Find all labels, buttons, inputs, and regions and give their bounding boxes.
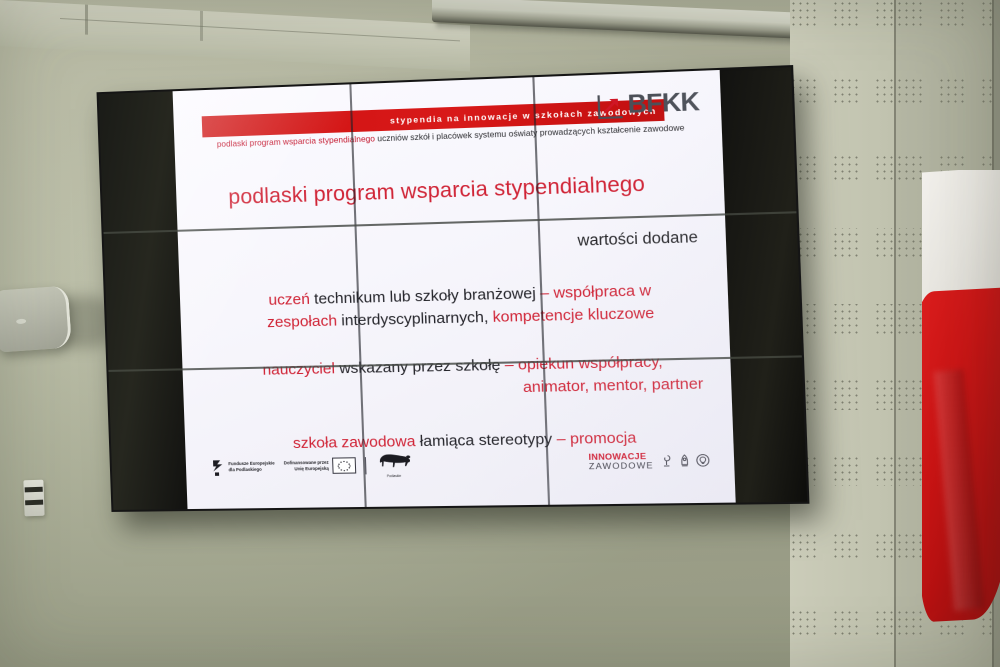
innowacje-zawodowe-logo: INNOWACJE ZAWODOWE: [588, 451, 710, 471]
eu-stars-icon: [333, 458, 355, 474]
acoustic-panel-left: [790, 0, 894, 667]
presentation-slide: stypendia na innowacje w szkołach zawodo…: [173, 70, 736, 509]
bfkk-wordmark: BFKK: [627, 87, 700, 120]
innowacje-zawodowe-text: INNOWACJE ZAWODOWE: [588, 452, 654, 471]
eu-funding-text: Dofinansowane przez Unię Europejską: [284, 460, 329, 472]
fundusze-europejskie-text: Fundusze Europejskie dla Podlaskiego: [228, 461, 275, 473]
wall-speaker: [0, 285, 72, 352]
eu-flag-icon: [332, 457, 356, 474]
bullet2-red-b: kompetencje kluczowe: [492, 304, 654, 325]
bullet2-dark: interdyscyplinarnych,: [341, 308, 493, 329]
slide-title: podlaski program wsparcia stypendialnego: [176, 170, 701, 211]
fundusze-europejskie-icon: [212, 459, 226, 476]
fundusze-europejskie-logo: Fundusze Europejskie dla Podlaskiego: [212, 458, 275, 476]
eu-line-2: Unię Europejską: [284, 466, 329, 472]
fe-line-2: dla Podlaskiego: [228, 467, 274, 473]
podlaskie-caption: Podlaskie: [375, 474, 412, 479]
bullet3-red-a: nauczyciel: [262, 360, 339, 379]
bullet1-red-b: – współpraca w: [540, 282, 652, 302]
switch-rocker-top: [25, 487, 43, 493]
hand-gesture-icon: [659, 453, 675, 468]
bullet2-red-a: zespołach: [267, 312, 342, 331]
light-switch[interactable]: [23, 480, 44, 517]
bullet5-red-a: szkoła zawodowa: [293, 433, 420, 452]
bullet1-red-a: uczeń: [268, 291, 314, 309]
room-scene: stypendia na innowacje w szkołach zawodo…: [0, 0, 1000, 667]
bfkk-logo: BFKK: [596, 87, 700, 121]
switch-rocker-bottom: [25, 500, 43, 506]
perforation-pattern: [790, 0, 894, 667]
polish-flag: [922, 170, 1000, 667]
bullet1-dark: technikum lub szkoły branżowej: [314, 285, 541, 308]
bison-icon: [375, 451, 413, 470]
zawodowe-line: ZAWODOWE: [589, 461, 654, 471]
bfkk-arrow-icon: [596, 92, 625, 120]
bullet5-dark: łamiąca stereotypy: [419, 431, 556, 451]
video-wall-display[interactable]: stypendia na innowacje w szkołach zawodo…: [97, 65, 810, 512]
speaker-indicator-dot: [16, 318, 26, 324]
footer-left-logos: Fundusze Europejskie dla Podlaskiego Dof…: [212, 451, 413, 480]
innowacje-icon-row: [659, 453, 711, 468]
bullet3-red-b: – opiekun współpracy,: [504, 353, 663, 374]
bullet5-red-b: – promocja: [556, 430, 636, 449]
rocket-icon: [677, 453, 693, 468]
european-union-logo: Dofinansowane przez Unię Europejską: [284, 457, 356, 474]
podlaskie-logo: Podlaskie: [375, 451, 413, 478]
lightbulb-circle-icon: [695, 453, 711, 468]
slide-subtitle: wartości dodane: [577, 229, 698, 251]
bullet3-dark: wskazany przez szkołę: [339, 357, 505, 378]
